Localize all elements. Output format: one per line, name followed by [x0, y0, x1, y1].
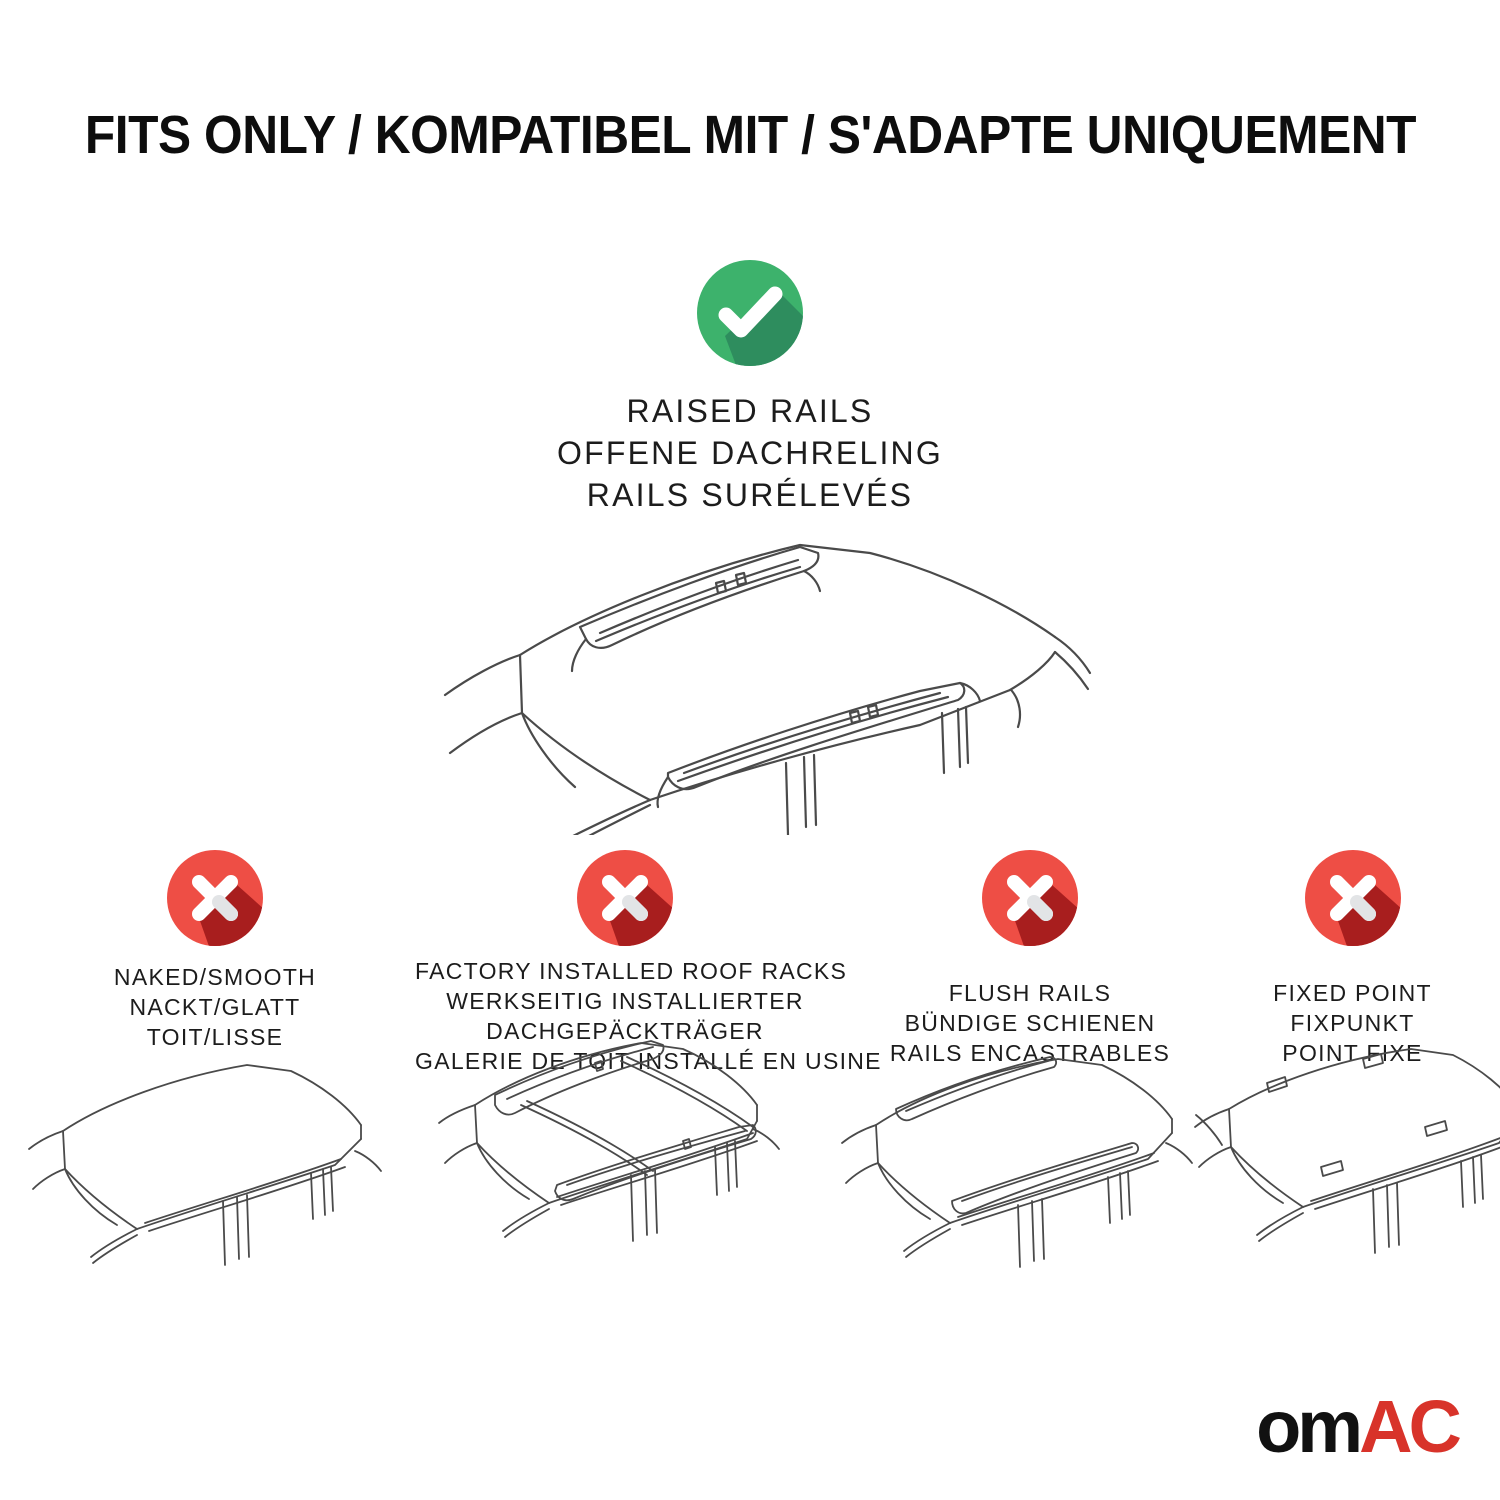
x-circle-icon: [1303, 848, 1403, 948]
approved-section: RAISED RAILS OFFENE DACHRELING RAILS SUR…: [0, 258, 1500, 516]
x-circle-icon: [980, 848, 1080, 948]
incompatible-option-naked-smooth: NAKED/SMOOTH NACKT/GLATT TOIT/LISSE: [15, 848, 415, 1052]
option-label-line-1: NAKED/SMOOTH: [15, 962, 415, 992]
page-title-text: FITS ONLY / KOMPATIBEL MIT / S'ADAPTE UN…: [84, 104, 1415, 166]
x-icon-wrap: [415, 848, 835, 948]
option-label-line-2: FIXPUNKT: [1215, 1008, 1490, 1038]
raised-rails-illustration: [400, 505, 1100, 835]
logo-text-red: AC: [1359, 1390, 1458, 1464]
x-icon-wrap: [840, 848, 1220, 948]
flush-rails-illustration: [840, 1043, 1230, 1273]
option-label-line-2: NACKT/GLATT: [15, 992, 415, 1022]
incompatible-option-factory-roof-racks: FACTORY INSTALLED ROOF RACKS WERKSEITIG …: [415, 848, 835, 1076]
approved-labels: RAISED RAILS OFFENE DACHRELING RAILS SUR…: [0, 390, 1500, 516]
option-label-line-1: FACTORY INSTALLED ROOF RACKS: [415, 956, 835, 986]
naked-smooth-roof-illustration: [25, 1043, 405, 1273]
incompatible-section: NAKED/SMOOTH NACKT/GLATT TOIT/LISSE: [0, 848, 1500, 1288]
incompatible-option-fixed-point: FIXED POINT FIXPUNKT POINT FIXE: [1215, 848, 1490, 1068]
x-circle-icon: [575, 848, 675, 948]
x-circle-icon: [165, 848, 265, 948]
fixed-point-roof-illustration: [1185, 1043, 1500, 1273]
approved-label-line-2: OFFENE DACHRELING: [0, 432, 1500, 474]
factory-roof-racks-illustration: [415, 1033, 815, 1278]
x-icon-wrap: [15, 848, 415, 948]
omac-logo: omAC: [1256, 1390, 1458, 1464]
option-label-line-2: BÜNDIGE SCHIENEN: [840, 1008, 1220, 1038]
check-circle-icon: [695, 258, 805, 368]
incompatible-option-flush-rails: FLUSH RAILS BÜNDIGE SCHIENEN RAILS ENCAS…: [840, 848, 1220, 1068]
logo-text-dark: om: [1256, 1390, 1359, 1464]
option-label-line-1: FIXED POINT: [1215, 978, 1490, 1008]
page-title: FITS ONLY / KOMPATIBEL MIT / S'ADAPTE UN…: [0, 104, 1500, 166]
approved-label-line-1: RAISED RAILS: [0, 390, 1500, 432]
option-labels: NAKED/SMOOTH NACKT/GLATT TOIT/LISSE: [15, 962, 415, 1052]
option-label-line-1: FLUSH RAILS: [840, 978, 1220, 1008]
option-label-line-2: WERKSEITIG INSTALLIERTER: [415, 986, 835, 1016]
x-icon-wrap: [1215, 848, 1490, 948]
